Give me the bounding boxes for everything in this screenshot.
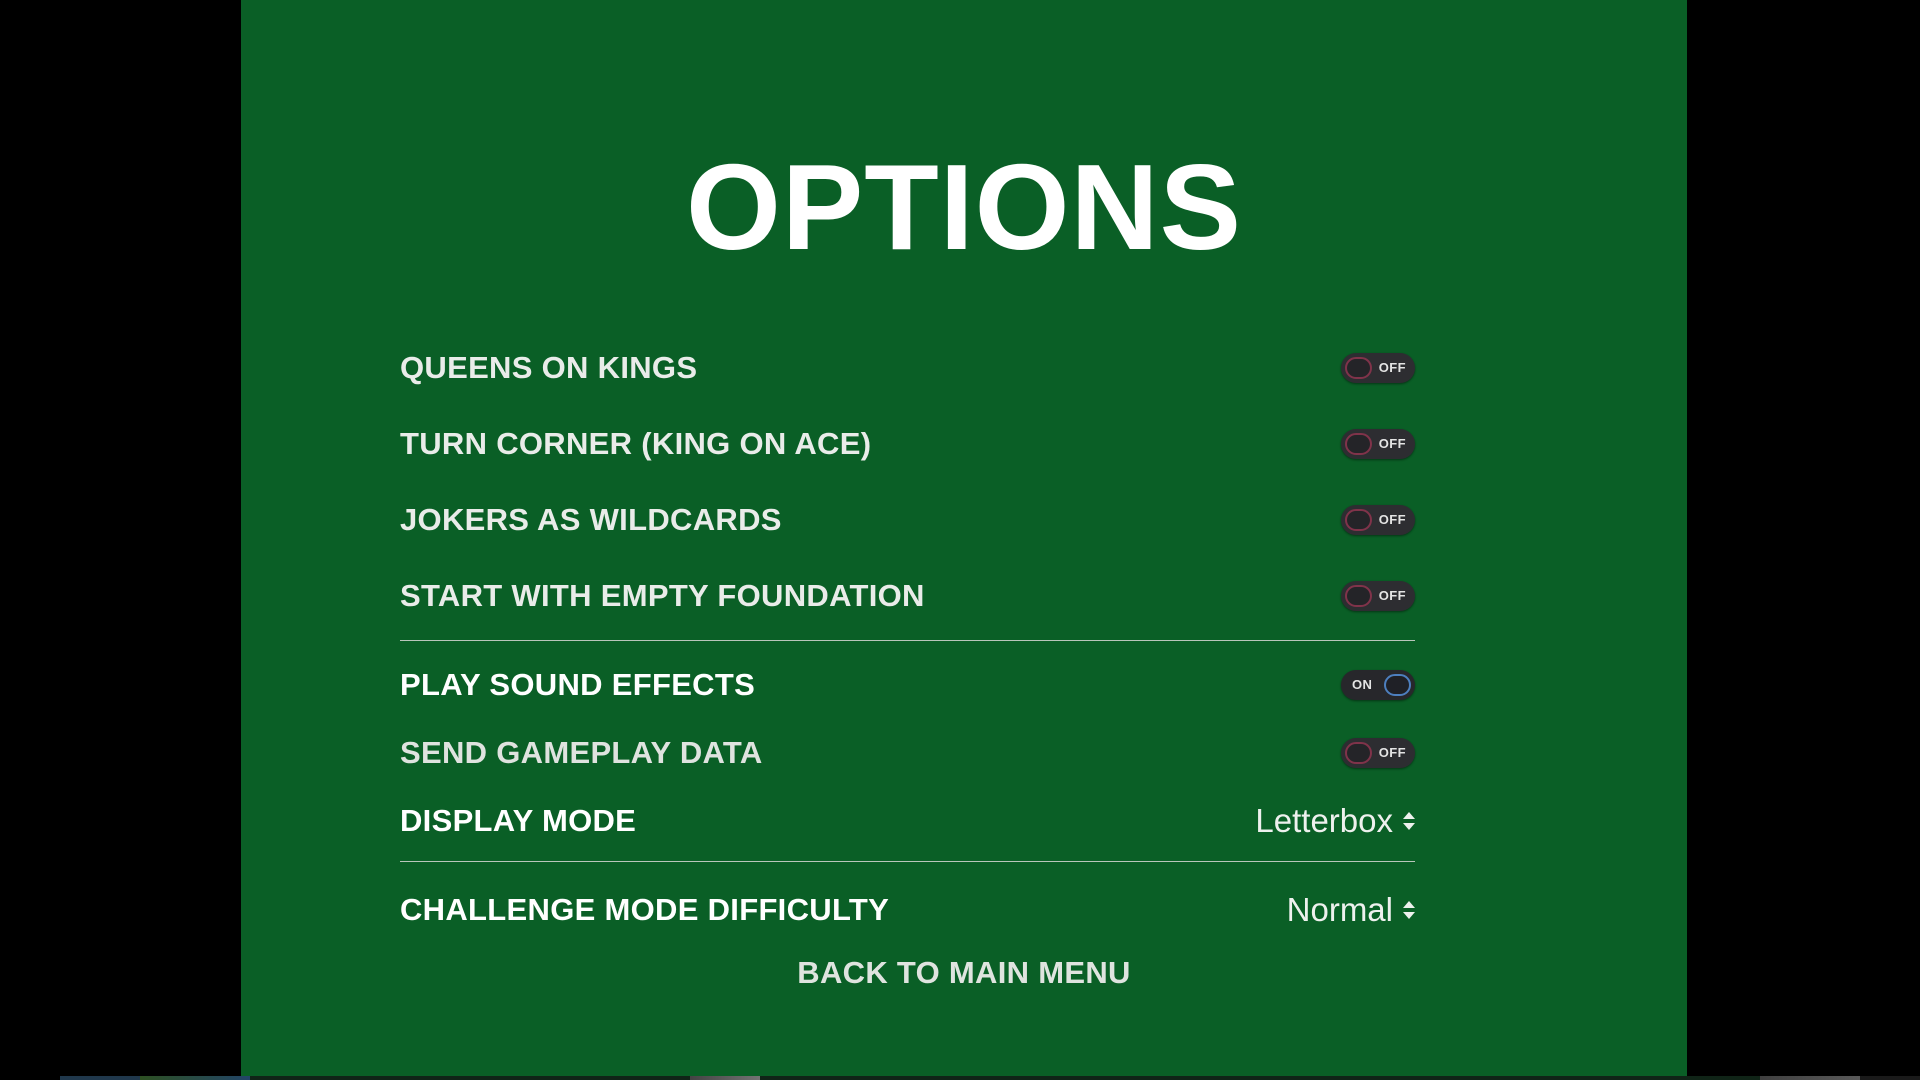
toggle-queens-on-kings[interactable]: OFF [1341,353,1415,383]
option-label-send-gameplay-data: SEND GAMEPLAY DATA [400,735,763,771]
toggle-state-label: OFF [1379,581,1406,611]
toggle-knob-icon [1345,585,1372,607]
option-row-queens-on-kings[interactable]: QUEENS ON KINGS OFF [400,330,1415,406]
section-separator-1 [400,640,1415,641]
desktop-taskbar-sliver [0,1076,1920,1080]
toggle-state-label: OFF [1379,738,1406,768]
option-label-turn-corner: TURN CORNER (KING ON ACE) [400,426,871,462]
stepper-value-display-mode: Letterbox [1255,802,1393,840]
option-row-send-gameplay-data[interactable]: SEND GAMEPLAY DATA OFF [400,719,1415,787]
toggle-turn-corner[interactable]: OFF [1341,429,1415,459]
options-menu-panel: OPTIONS QUEENS ON KINGS OFF TURN CORNER … [241,0,1687,1076]
toggle-play-sound-effects[interactable]: ON [1341,670,1415,700]
page-title: OPTIONS [241,146,1687,268]
options-list: QUEENS ON KINGS OFF TURN CORNER (KING ON… [400,330,1415,948]
option-label-display-mode: DISPLAY MODE [400,803,636,839]
toggle-jokers-as-wildcards[interactable]: OFF [1341,505,1415,535]
option-row-start-empty-foundation[interactable]: START WITH EMPTY FOUNDATION OFF [400,558,1415,634]
game-screen: OPTIONS QUEENS ON KINGS OFF TURN CORNER … [0,0,1920,1080]
toggle-start-empty-foundation[interactable]: OFF [1341,581,1415,611]
toggle-knob-icon [1345,357,1372,379]
stepper-updown-icon[interactable] [1402,808,1415,834]
option-row-challenge-difficulty[interactable]: CHALLENGE MODE DIFFICULTY Normal [400,872,1415,948]
option-label-jokers-as-wildcards: JOKERS AS WILDCARDS [400,502,782,538]
option-label-challenge-difficulty: CHALLENGE MODE DIFFICULTY [400,892,889,928]
toggle-knob-icon [1345,509,1372,531]
toggle-knob-icon [1384,674,1411,696]
option-row-display-mode[interactable]: DISPLAY MODE Letterbox [400,787,1415,855]
toggle-knob-icon [1345,433,1372,455]
stepper-updown-icon[interactable] [1402,897,1415,923]
option-row-play-sound-effects[interactable]: PLAY SOUND EFFECTS ON [400,651,1415,719]
option-row-jokers-as-wildcards[interactable]: JOKERS AS WILDCARDS OFF [400,482,1415,558]
option-label-queens-on-kings: QUEENS ON KINGS [400,350,697,386]
toggle-knob-icon [1345,742,1372,764]
option-row-turn-corner[interactable]: TURN CORNER (KING ON ACE) OFF [400,406,1415,482]
stepper-value-challenge-difficulty: Normal [1287,891,1393,929]
option-label-start-empty-foundation: START WITH EMPTY FOUNDATION [400,578,925,614]
toggle-state-label: OFF [1379,505,1406,535]
back-to-main-menu-button[interactable]: BACK TO MAIN MENU [241,955,1687,991]
toggle-state-label: OFF [1379,429,1406,459]
stepper-challenge-difficulty[interactable]: Normal [1287,891,1415,929]
toggle-state-label: ON [1352,670,1372,700]
toggle-send-gameplay-data[interactable]: OFF [1341,738,1415,768]
toggle-state-label: OFF [1379,353,1406,383]
section-separator-2 [400,861,1415,862]
option-label-play-sound-effects: PLAY SOUND EFFECTS [400,667,755,703]
stepper-display-mode[interactable]: Letterbox [1255,802,1415,840]
